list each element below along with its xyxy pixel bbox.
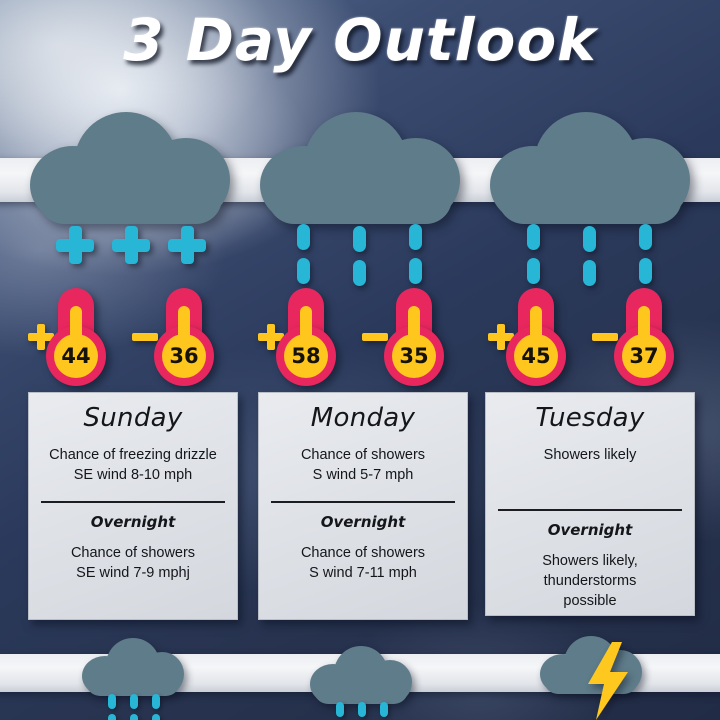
lightning-bolt-icon	[582, 642, 634, 720]
low-temperature-value: 35	[392, 334, 436, 378]
day-title: Monday	[267, 403, 459, 433]
day-wind-line: SE wind 8-10 mph	[37, 465, 229, 485]
high-temperature-value: 44	[54, 334, 98, 378]
forecast-card-tuesday: Tuesday Showers likely Overnight Showers…	[485, 392, 695, 616]
sleet-plus-icon	[56, 226, 94, 264]
overnight-label: Overnight	[494, 521, 686, 539]
low-temperature-value: 36	[162, 334, 206, 378]
cloud-rain-icon	[490, 112, 690, 224]
day-column-tuesday: 45 37	[482, 112, 702, 386]
high-temperature-thermometer: 44	[32, 288, 120, 386]
cloud-sleet-icon	[30, 112, 230, 224]
footer-cloud-rain-icon	[82, 638, 192, 718]
low-temperature-thermometer: 35	[370, 288, 458, 386]
precipitation-glyphs-sunday	[30, 224, 230, 286]
night-forecast-line: Chance of showers	[37, 543, 229, 563]
low-temperature-value: 37	[622, 334, 666, 378]
night-wind-line: SE wind 7-9 mphj	[37, 563, 229, 583]
precipitation-glyphs-monday	[260, 224, 460, 286]
low-temperature-minus-sign	[362, 324, 388, 350]
cloud-rain-icon	[260, 112, 460, 224]
night-forecast-line-2: possible	[494, 591, 686, 611]
rain-drop-icon	[409, 258, 422, 284]
rain-drop-icon	[409, 224, 422, 250]
high-temperature-thermometer: 45	[492, 288, 580, 386]
card-divider	[41, 501, 225, 503]
thermometers-monday: 58 35	[252, 288, 472, 386]
rain-drop-icon	[353, 260, 366, 286]
overnight-label: Overnight	[267, 513, 459, 531]
card-divider	[498, 509, 682, 511]
rain-drop-icon	[583, 260, 596, 286]
rain-drop-icon	[583, 226, 596, 252]
precipitation-glyphs-tuesday	[490, 224, 690, 286]
day-forecast-line: Chance of freezing drizzle	[37, 445, 229, 465]
page-title: 3 Day Outlook	[0, 6, 720, 74]
weather-outlook-infographic: 3 Day Outlook 44 36	[0, 0, 720, 720]
thermometers-sunday: 44 36	[22, 288, 242, 386]
rain-drop-icon	[527, 224, 540, 250]
rain-drop-icon	[297, 224, 310, 250]
high-temperature-thermometer: 58	[262, 288, 350, 386]
low-temperature-thermometer: 37	[600, 288, 688, 386]
day-forecast-line: Chance of showers	[267, 445, 459, 465]
rain-drop-icon	[527, 258, 540, 284]
forecast-card-monday: Monday Chance of showers S wind 5-7 mph …	[258, 392, 468, 620]
sleet-plus-icon	[112, 226, 150, 264]
night-forecast-line: Chance of showers	[267, 543, 459, 563]
day-forecast-line: Showers likely	[494, 445, 686, 465]
footer-cloud-rain-icon	[310, 646, 420, 720]
card-divider	[271, 501, 455, 503]
night-forecast-line: Showers likely, thunderstorms	[494, 551, 686, 591]
sleet-plus-icon	[168, 226, 206, 264]
day-title: Sunday	[37, 403, 229, 433]
rain-drop-icon	[353, 226, 366, 252]
forecast-card-sunday: Sunday Chance of freezing drizzle SE win…	[28, 392, 238, 620]
day-column-monday: 58 35	[252, 112, 472, 386]
rain-drop-icon	[297, 258, 310, 284]
day-title: Tuesday	[494, 403, 686, 433]
low-temperature-minus-sign	[592, 324, 618, 350]
rain-drop-icon	[639, 258, 652, 284]
day-column-sunday: 44 36	[22, 112, 242, 386]
night-wind-line: S wind 7-11 mph	[267, 563, 459, 583]
low-temperature-thermometer: 36	[140, 288, 228, 386]
high-temperature-value: 45	[514, 334, 558, 378]
day-wind-line: S wind 5-7 mph	[267, 465, 459, 485]
high-temperature-value: 58	[284, 334, 328, 378]
rain-drop-icon	[639, 224, 652, 250]
overnight-label: Overnight	[37, 513, 229, 531]
thermometers-tuesday: 45 37	[482, 288, 702, 386]
footer-cloud-lightning-icon	[540, 636, 650, 716]
low-temperature-minus-sign	[132, 324, 158, 350]
